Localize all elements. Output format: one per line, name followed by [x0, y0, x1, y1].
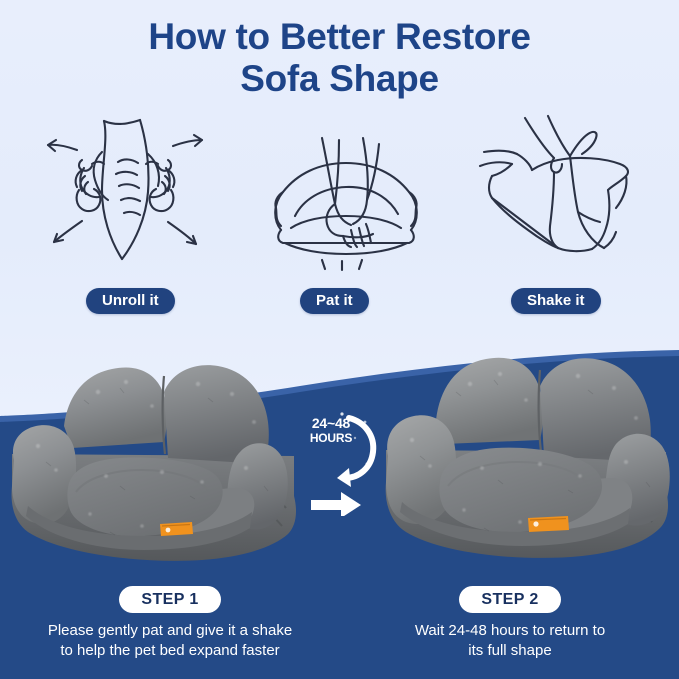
step-2-line1: Wait 24-48 hours to return to [415, 622, 605, 639]
step-2-description: Wait 24-48 hours to return to its full s… [360, 621, 660, 661]
step-1-pill: STEP 1 [119, 586, 220, 613]
right-arrow-icon [311, 492, 361, 516]
pat-illustration [243, 108, 449, 283]
step-2: STEP 2 Wait 24-48 hours to return to its… [360, 586, 660, 661]
badge-pat-it[interactable]: Pat it [300, 288, 369, 314]
step-1-line1: Please gently pat and give it a shake [48, 622, 292, 639]
badge-row: Unroll it Pat it Shake it [0, 288, 679, 318]
illustration-row [0, 108, 679, 288]
badge-unroll-it[interactable]: Unroll it [86, 288, 175, 314]
step-1-line2: to help the pet bed expand faster [60, 642, 279, 659]
page-title-line2: Sofa Shape [0, 58, 679, 100]
page-title: How to Better Restore Sofa Shape [0, 16, 679, 100]
pet-bed-after [378, 334, 678, 562]
infographic-page: How to Better Restore Sofa Shape [0, 0, 679, 679]
unroll-illustration [22, 108, 228, 283]
wait-time-indicator: 24~48 HOURS [297, 408, 383, 516]
step-2-line2: its full shape [468, 642, 551, 659]
page-title-line1: How to Better Restore [148, 16, 530, 57]
circular-arrow-icon [337, 412, 373, 487]
badge-shake-it[interactable]: Shake it [511, 288, 601, 314]
step-1: STEP 1 Please gently pat and give it a s… [20, 586, 320, 661]
step-1-description: Please gently pat and give it a shake to… [20, 621, 320, 661]
pet-bed-before [2, 336, 310, 568]
shake-illustration [462, 108, 668, 283]
step-2-pill: STEP 2 [459, 586, 560, 613]
